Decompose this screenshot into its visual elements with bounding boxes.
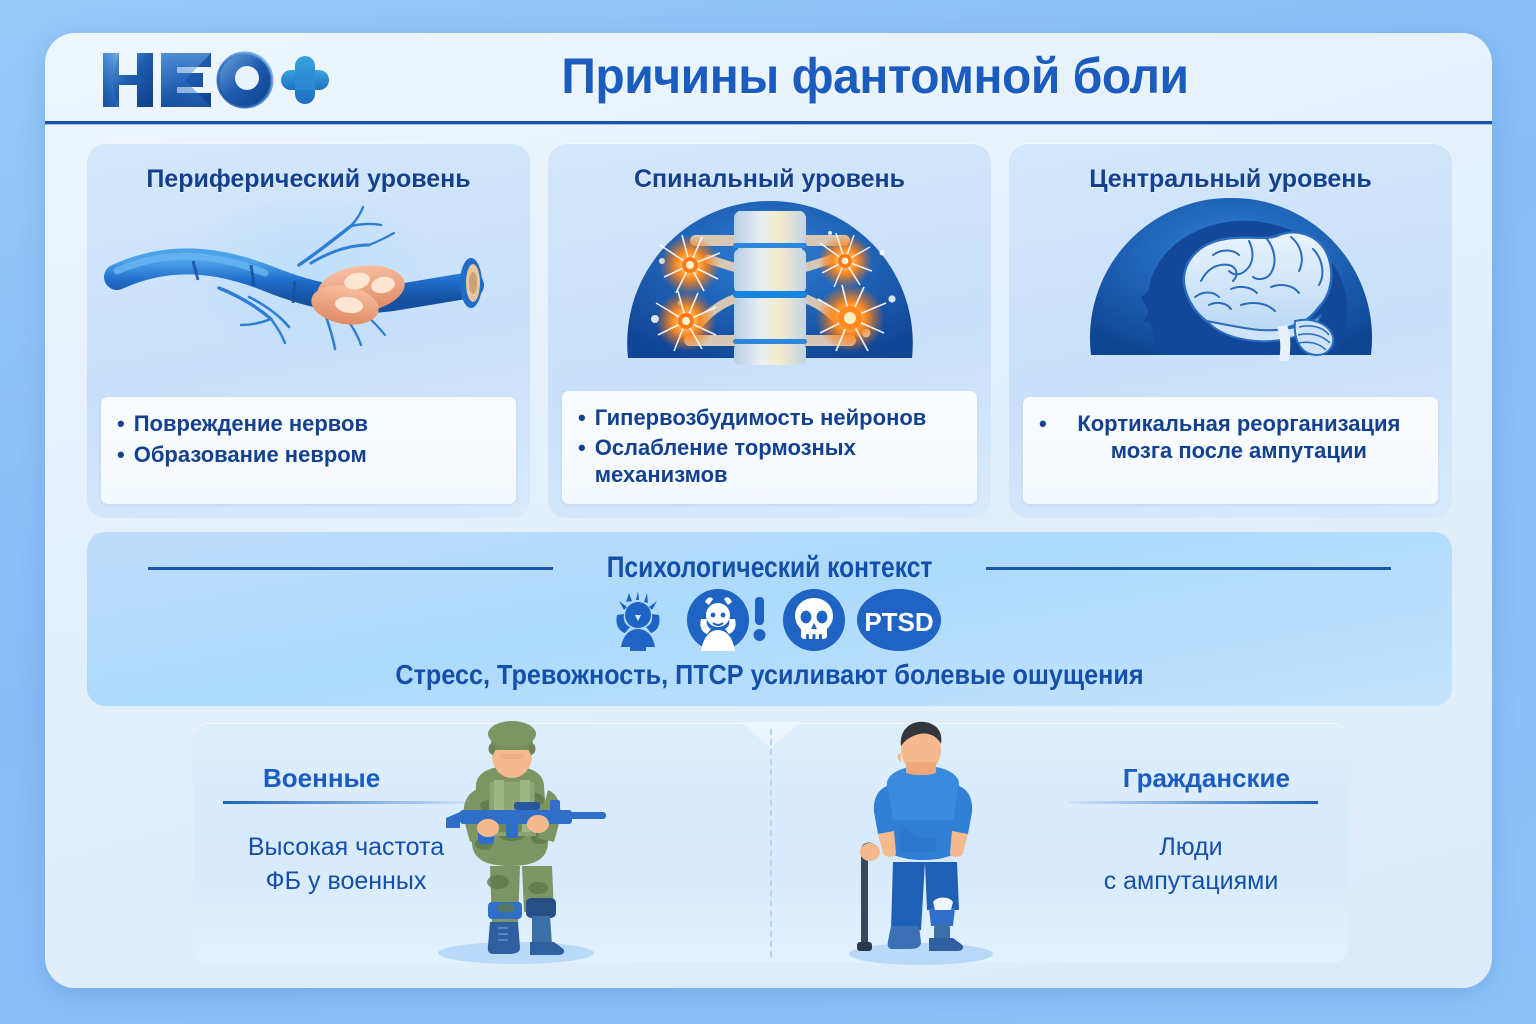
bullet-text: Образование невром bbox=[134, 442, 367, 469]
levels-row: Периферический уровень bbox=[87, 143, 1452, 518]
card-spinal-level[interactable]: Спинальный уровень bbox=[548, 143, 991, 518]
poster-header: Причины фантомной боли bbox=[45, 33, 1492, 123]
bullet-item: • Образование невром bbox=[117, 442, 500, 469]
bullet-item: • Гипервозбудимость нейронов bbox=[578, 405, 961, 432]
panel-heading-rule bbox=[1068, 801, 1318, 804]
civilian-with-cane-figure bbox=[821, 716, 1031, 971]
skull-icon bbox=[781, 589, 847, 656]
bullet-text: Гипервозбудимость нейронов bbox=[595, 405, 927, 432]
heading-rule-right bbox=[986, 567, 1391, 570]
bullet-dot: • bbox=[117, 411, 125, 438]
soldier-with-prosthetic-leg-figure bbox=[398, 716, 628, 971]
bullet-dot: • bbox=[578, 405, 586, 432]
card-title: Центральный уровень bbox=[1009, 165, 1452, 194]
card-peripheral-level[interactable]: Периферический уровень bbox=[87, 143, 530, 518]
panel-text-line2: с ампутациями bbox=[1076, 865, 1306, 899]
page-title: Причины фантомной боли bbox=[366, 47, 1384, 105]
card-bullets: • Кортикальная реорганизация мозга после… bbox=[1023, 397, 1438, 504]
card-bullets: • Повреждение нервов • Образование невро… bbox=[101, 397, 516, 504]
panel-text-line1: Люди bbox=[1076, 831, 1306, 865]
bullet-text: Ослабление тормозных механизмов bbox=[595, 435, 961, 489]
neo-plus-logo bbox=[95, 45, 335, 115]
card-title: Спинальный уровень bbox=[548, 165, 991, 194]
card-title: Периферический уровень bbox=[87, 165, 530, 194]
bullet-item: • Кортикальная реорганизация мозга после… bbox=[1039, 411, 1422, 465]
panel-civilian[interactable]: Гражданские Люди с ампутациями bbox=[771, 723, 1348, 963]
brain-head-illustration bbox=[1009, 193, 1452, 383]
panel-heading: Гражданские bbox=[1123, 763, 1290, 794]
spine-neurons-illustration bbox=[548, 193, 991, 383]
bullet-text: Повреждение нервов bbox=[134, 411, 368, 438]
poster-canvas: Причины фантомной боли Периферический ур… bbox=[45, 33, 1492, 988]
damaged-nerve-illustration bbox=[87, 193, 530, 383]
ptsd-label: PTSD bbox=[864, 607, 933, 637]
psychological-context-section: Психологический контекст bbox=[87, 531, 1452, 706]
panel-heading: Военные bbox=[263, 763, 380, 794]
stressed-person-icon bbox=[599, 589, 677, 656]
heading-rule-left bbox=[148, 567, 553, 570]
bullet-item: • Ослабление тормозных механизмов bbox=[578, 435, 961, 489]
bullet-item: • Повреждение нервов bbox=[117, 411, 500, 438]
card-central-level[interactable]: Центральный уровень bbox=[1009, 143, 1452, 518]
bullet-dot: • bbox=[1039, 411, 1047, 465]
bullet-dot: • bbox=[578, 435, 586, 489]
card-bullets: • Гипервозбудимость нейронов • Ослаблени… bbox=[562, 391, 977, 504]
header-rule-soft bbox=[45, 124, 1492, 125]
bullet-dot: • bbox=[117, 442, 125, 469]
audience-panels: Военные Высокая частота ФБ у военных bbox=[193, 723, 1348, 963]
anxious-person-exclamation-icon bbox=[687, 589, 771, 656]
section-title: Психологический контекст bbox=[607, 551, 933, 585]
panel-military[interactable]: Военные Высокая частота ФБ у военных bbox=[193, 723, 770, 963]
panel-text: Люди с ампутациями bbox=[1076, 831, 1306, 899]
psych-caption: Стресс, Тревожность, ПТСР усиливают боле… bbox=[155, 659, 1384, 691]
section-heading-row: Психологический контекст bbox=[87, 551, 1452, 585]
bullet-text: Кортикальная реорганизация мозга после а… bbox=[1056, 411, 1422, 465]
ptsd-badge-icon: PTSD bbox=[857, 589, 941, 656]
psych-icon-row: PTSD bbox=[87, 589, 1452, 656]
